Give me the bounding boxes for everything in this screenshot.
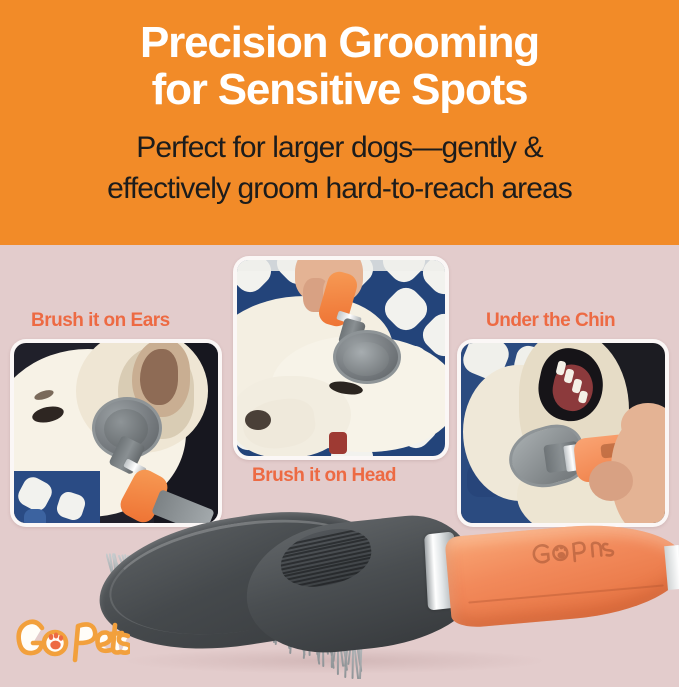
subhead-line-1: Perfect for larger dogs—gently & [136, 131, 542, 164]
gopets-logo [12, 612, 130, 668]
photo-ears [14, 343, 218, 523]
headline-line-2: for Sensitive Spots [20, 66, 660, 113]
caption-head: Brush it on Head [252, 465, 396, 487]
photo-head [237, 260, 445, 456]
photo-card-head [233, 256, 449, 460]
page-title: Precision Grooming for Sensitive Spots [20, 19, 660, 113]
headline-line-1: Precision Grooming [140, 18, 539, 67]
page-subtitle: Perfect for larger dogs—gently & effecti… [16, 127, 664, 209]
subhead-line-2: effectively groom hard-to-reach areas [16, 168, 664, 209]
product-brush [96, 497, 679, 687]
brush-handle [444, 517, 679, 629]
header-banner: Precision Grooming for Sensitive Spots P… [0, 0, 679, 245]
photo-chin [461, 343, 665, 523]
caption-ears: Brush it on Ears [31, 310, 170, 332]
caption-chin: Under the Chin [486, 310, 615, 332]
